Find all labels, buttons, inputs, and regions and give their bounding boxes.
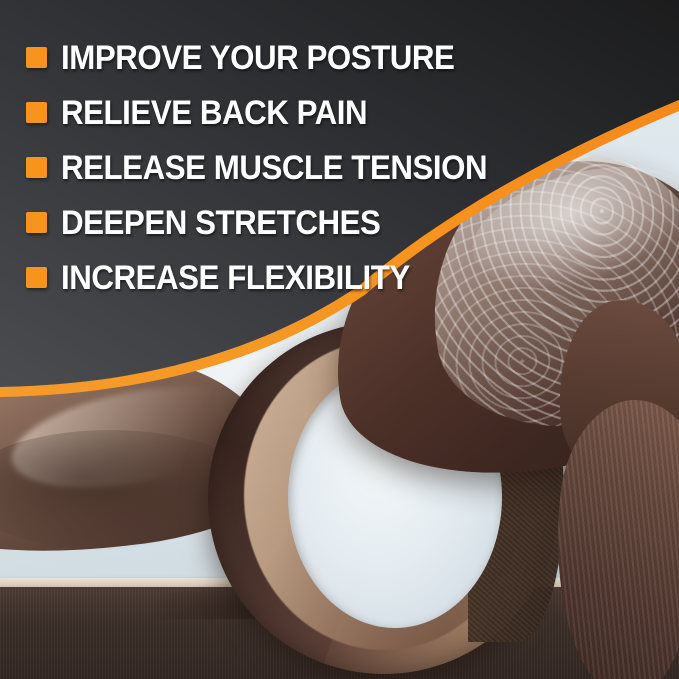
list-item: DEEPEN STRETCHES [26, 195, 470, 250]
benefit-label: DEEPEN STRETCHES [61, 206, 380, 240]
list-item: RELIEVE BACK PAIN [26, 85, 470, 140]
orange-square-bullet-icon [26, 267, 47, 288]
orange-square-bullet-icon [26, 47, 47, 68]
benefits-list: IMPROVE YOUR POSTURE RELIEVE BACK PAIN R… [0, 0, 470, 305]
list-item: IMPROVE YOUR POSTURE [26, 30, 470, 85]
list-item: RELEASE MUSCLE TENSION [26, 140, 470, 195]
orange-square-bullet-icon [26, 212, 47, 233]
orange-square-bullet-icon [26, 102, 47, 123]
benefit-label: INCREASE FLEXIBILITY [61, 261, 410, 295]
infographic-canvas: IMPROVE YOUR POSTURE RELIEVE BACK PAIN R… [0, 0, 679, 679]
benefit-label: IMPROVE YOUR POSTURE [61, 41, 454, 75]
benefit-label: RELEASE MUSCLE TENSION [61, 151, 487, 185]
benefit-label: RELIEVE BACK PAIN [61, 96, 367, 130]
list-item: INCREASE FLEXIBILITY [26, 250, 470, 305]
orange-square-bullet-icon [26, 157, 47, 178]
